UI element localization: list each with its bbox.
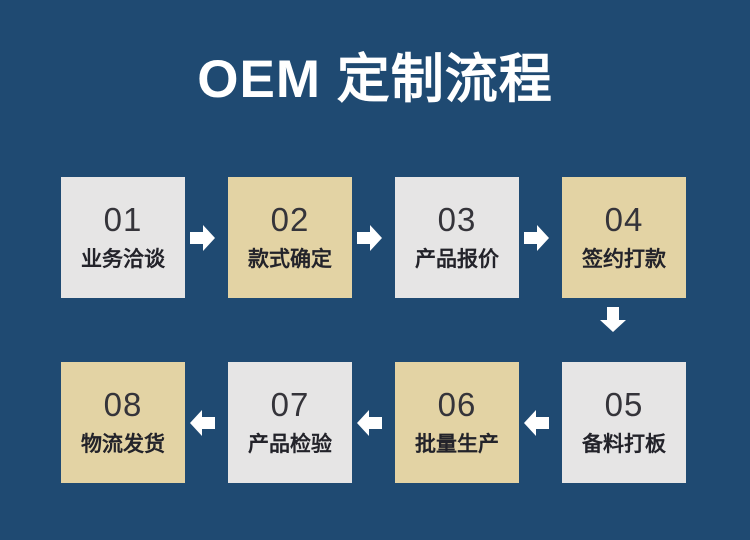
step-number: 07 <box>271 386 310 424</box>
step-number: 05 <box>605 386 644 424</box>
arrow-left-icon <box>190 410 215 436</box>
step-box-03: 03 产品报价 <box>395 177 519 298</box>
step-label: 备料打板 <box>582 430 666 460</box>
step-label: 产品检验 <box>248 430 332 460</box>
oem-process-poster: OEM 定制流程 01 业务洽谈 02 款式确定 03 产品报价 04 签约打款… <box>0 0 750 540</box>
step-number: 08 <box>104 386 143 424</box>
step-box-04: 04 签约打款 <box>562 177 686 298</box>
arrow-right-icon <box>190 225 215 251</box>
step-box-01: 01 业务洽谈 <box>61 177 185 298</box>
step-label: 产品报价 <box>415 245 499 275</box>
step-box-07: 07 产品检验 <box>228 362 352 483</box>
arrow-right-icon <box>524 225 549 251</box>
step-label: 签约打款 <box>582 245 666 275</box>
step-number: 03 <box>438 201 477 239</box>
step-number: 01 <box>104 201 143 239</box>
arrow-left-icon <box>524 410 549 436</box>
step-number: 06 <box>438 386 477 424</box>
step-label: 业务洽谈 <box>81 245 165 275</box>
step-box-02: 02 款式确定 <box>228 177 352 298</box>
page-title: OEM 定制流程 <box>0 47 750 113</box>
step-box-06: 06 批量生产 <box>395 362 519 483</box>
step-label: 批量生产 <box>415 430 499 460</box>
arrow-down-icon <box>600 307 626 332</box>
step-number: 02 <box>271 201 310 239</box>
arrow-left-icon <box>357 410 382 436</box>
step-label: 款式确定 <box>248 245 332 275</box>
step-box-08: 08 物流发货 <box>61 362 185 483</box>
step-box-05: 05 备料打板 <box>562 362 686 483</box>
arrow-right-icon <box>357 225 382 251</box>
step-label: 物流发货 <box>81 430 165 460</box>
step-number: 04 <box>605 201 644 239</box>
